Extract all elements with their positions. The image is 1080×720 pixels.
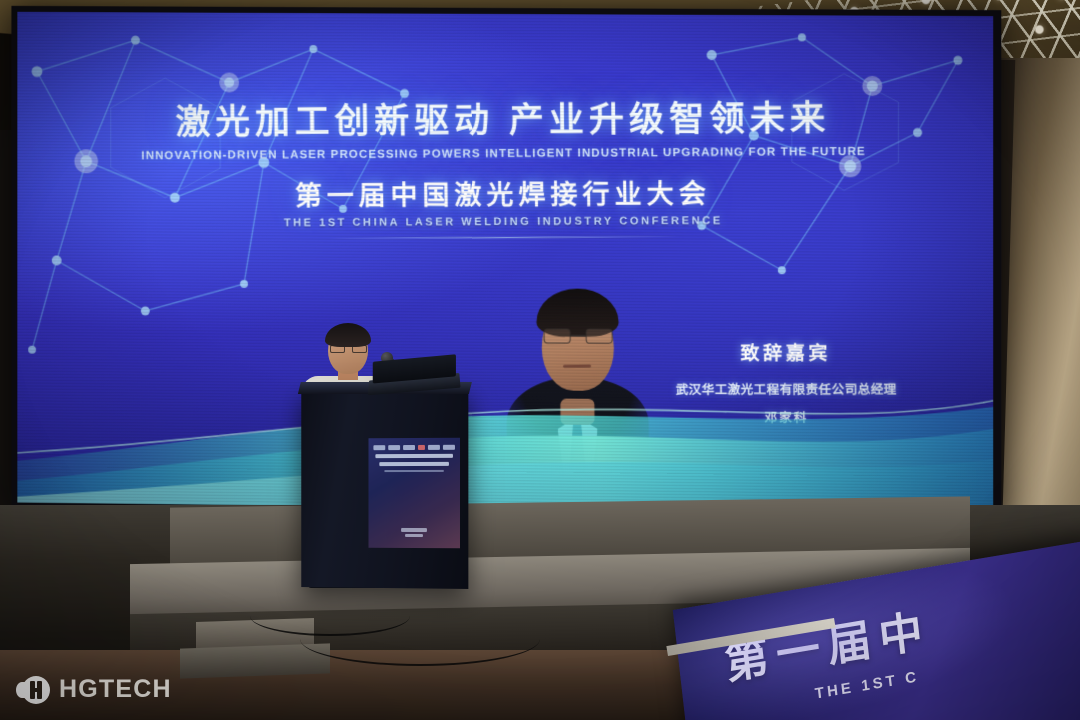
screen-title-en: INNOVATION-DRIVEN LASER PROCESSING POWER… xyxy=(17,145,993,163)
speaker-glasses-icon xyxy=(330,345,367,353)
screen-headline-block: 激光加工创新驱动 产业升级智领未来 INNOVATION-DRIVEN LASE… xyxy=(17,89,993,241)
hgtech-watermark: HGTECH xyxy=(22,675,172,704)
podium xyxy=(300,388,468,588)
led-screen: 激光加工创新驱动 产业升级智领未来 INNOVATION-DRIVEN LASE… xyxy=(17,12,993,514)
podium-sign-en-line xyxy=(384,470,444,472)
foreground-banner-cn: 第一届中 xyxy=(721,594,933,692)
guest-role-label: 致辞嘉宾 xyxy=(654,338,918,365)
screen-subtitle-en: THE 1ST CHINA LASER WELDING INDUSTRY CON… xyxy=(18,214,993,231)
podium-sign-subtitle-line xyxy=(379,462,449,466)
screen-subtitle-cn: 第一届中国激光焊接行业大会 xyxy=(17,170,993,214)
foreground-banner-text: 第一届中 THE 1ST C xyxy=(721,594,936,717)
hgtech-brand-text: HGTECH xyxy=(59,675,172,704)
podium-sign-title-line xyxy=(375,454,453,458)
stage-cable xyxy=(300,612,540,666)
cyan-wave-graphic xyxy=(17,358,993,514)
screen-title-cn: 激光加工创新驱动 产业升级智领未来 xyxy=(17,89,993,146)
podium-sign xyxy=(368,438,459,549)
hgtech-h-crossbar xyxy=(30,688,42,692)
led-screen-frame: 激光加工创新驱动 产业升级智领未来 INNOVATION-DRIVEN LASE… xyxy=(11,6,1001,524)
conference-photo-scene: 激光加工创新驱动 产业升级智领未来 INNOVATION-DRIVEN LASE… xyxy=(0,0,1080,720)
portrait-glasses-icon xyxy=(544,329,613,344)
speaker-hair xyxy=(325,323,371,347)
foreground-banner-en: THE 1ST C xyxy=(814,666,936,703)
podium-sponsor-logo-row xyxy=(373,444,455,450)
podium-sign-footer xyxy=(368,526,459,539)
hgtech-circle-h-logo-icon xyxy=(22,676,50,704)
hgtech-swoosh-icon xyxy=(16,682,28,698)
